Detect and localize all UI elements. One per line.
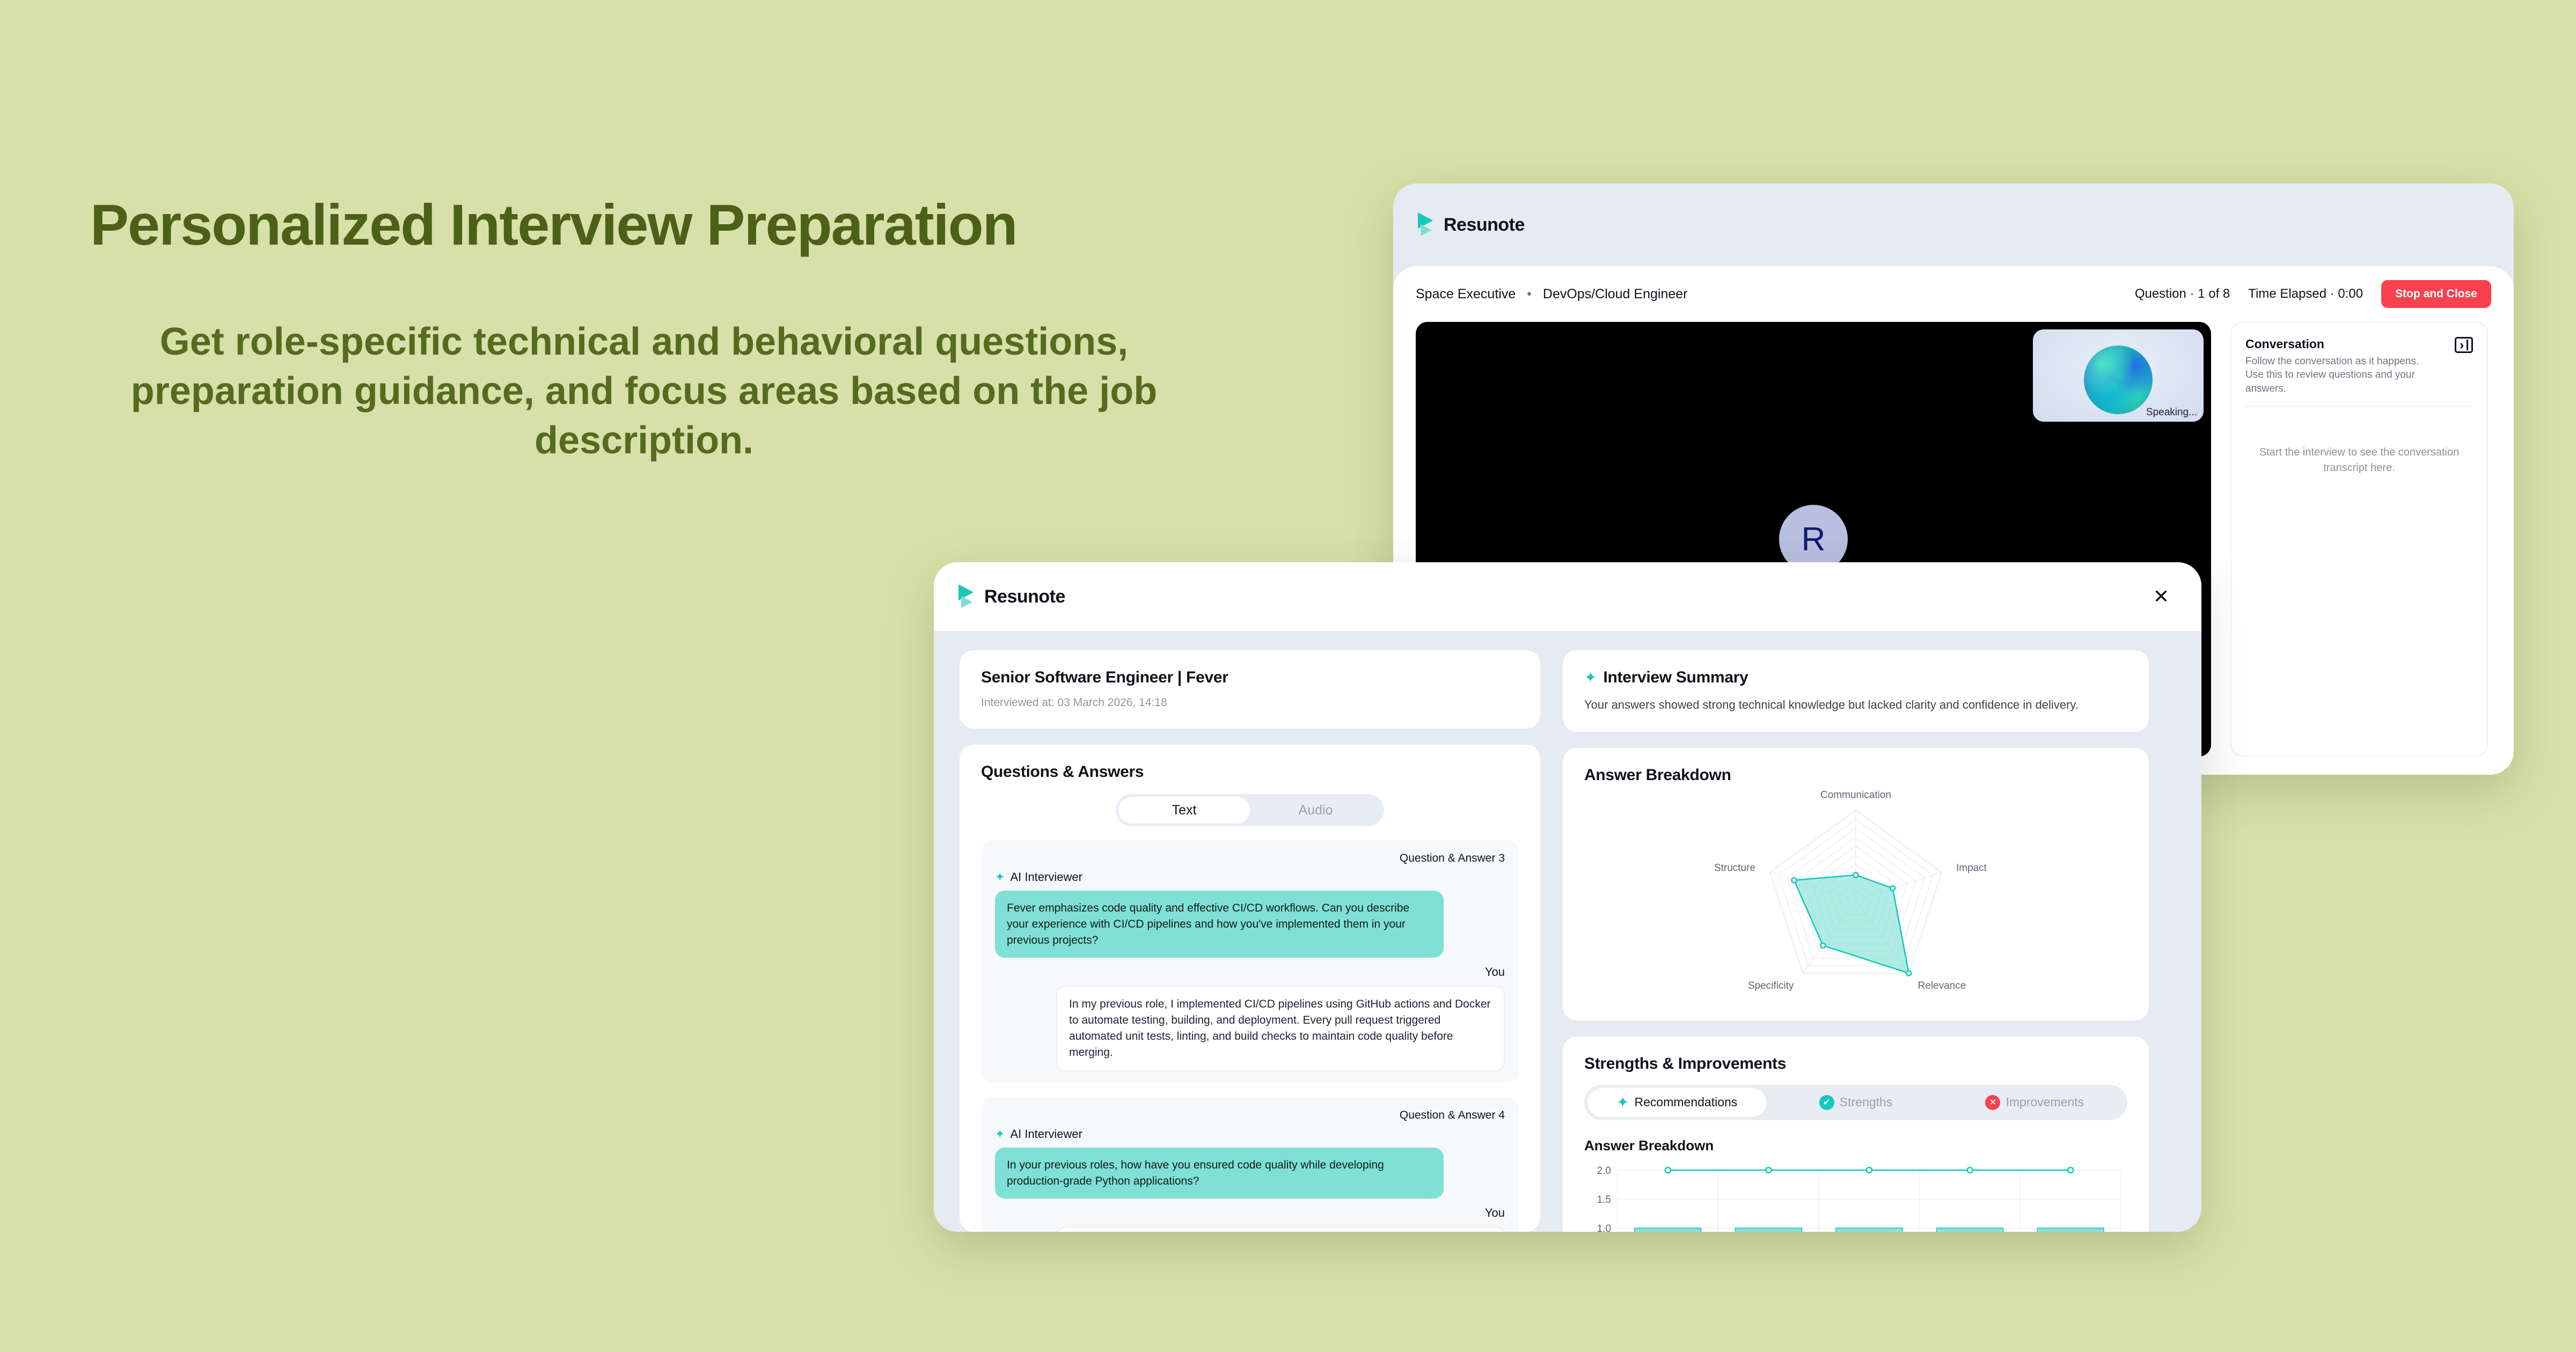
bar-chart-title: Answer Breakdown	[1584, 1137, 2127, 1154]
role-title: DevOps/Cloud Engineer	[1543, 286, 1688, 302]
time-elapsed: Time Elapsed · 0:00	[2248, 286, 2363, 302]
sparkle-icon: ✦	[1616, 1095, 1629, 1110]
ai-interviewer-tile: Speaking...	[2033, 329, 2204, 422]
job-title: Senior Software Engineer | Fever	[981, 668, 1519, 687]
company-name: Space Executive	[1416, 286, 1516, 302]
strengths-section-title: Strengths & Improvements	[1584, 1055, 2127, 1073]
live-status-group: Question · 1 of 8 Time Elapsed · 0:00 St…	[2135, 280, 2491, 308]
svg-text:2.0: 2.0	[1597, 1165, 1611, 1177]
svg-text:1.0: 1.0	[1597, 1223, 1611, 1232]
sparkle-icon: ✦	[995, 871, 1005, 883]
separator-dot: •	[1527, 286, 1532, 302]
speaker-you: You	[995, 1206, 1505, 1220]
brand-logo: Resunote	[1418, 212, 1525, 237]
speaking-status: Speaking...	[2146, 407, 2197, 418]
summary-text: Your answers showed strong technical kno…	[1584, 696, 2127, 714]
conversation-panel: Conversation Follow the conversation as …	[2230, 322, 2488, 756]
question-bubble: In your previous roles, how have you ens…	[995, 1148, 1444, 1199]
page-subcopy: Get role-specific technical and behavior…	[0, 317, 1288, 465]
qa-section-title: Questions & Answers	[981, 763, 1519, 781]
radar-chart: CommunicationImpactRelevanceSpecificityS…	[1584, 788, 2127, 1002]
svg-text:Relevance: Relevance	[1918, 980, 1966, 991]
report-body: Senior Software Engineer | Fever Intervi…	[934, 631, 2201, 1232]
summary-title-row: ✦ Interview Summary	[1584, 668, 2127, 687]
strengths-improvements-card: Strengths & Improvements ✦ Recommendatio…	[1563, 1037, 2149, 1232]
answer-breakdown-radar-card: Answer Breakdown CommunicationImpactRele…	[1563, 748, 2149, 1020]
question-counter: Question · 1 of 8	[2135, 286, 2230, 302]
sparkle-icon: ✦	[1584, 670, 1597, 685]
tab-label: Improvements	[2006, 1095, 2084, 1109]
svg-text:Impact: Impact	[1956, 862, 1987, 873]
tab-improvements[interactable]: ✕ Improvements	[1945, 1088, 2124, 1117]
questions-answers-card: Questions & Answers Text Audio Question …	[960, 745, 1540, 1232]
qa-index: Question & Answer 3	[995, 852, 1505, 865]
radar-chart-title: Answer Breakdown	[1584, 766, 2127, 784]
interview-report-window: Resunote ✕ Senior Software Engineer | Fe…	[934, 562, 2201, 1232]
svg-text:1.5: 1.5	[1597, 1194, 1611, 1206]
report-left-column: Senior Software Engineer | Fever Intervi…	[960, 650, 1540, 1232]
qa-item: Question & Answer 4 ✦ AI Interviewer In …	[981, 1097, 1519, 1232]
summary-title: Interview Summary	[1603, 668, 1748, 687]
speaker-you: You	[995, 965, 1505, 979]
answer-bubble	[1056, 1226, 1505, 1232]
brand-name: Resunote	[1444, 215, 1525, 236]
resunote-logo-icon	[1418, 212, 1436, 237]
interview-summary-card: ✦ Interview Summary Your answers showed …	[1563, 650, 2149, 732]
conversation-subtitle: Follow the conversation as it happens. U…	[2245, 355, 2433, 395]
conversation-header-text: Conversation Follow the conversation as …	[2245, 337, 2433, 395]
collapse-panel-icon[interactable]	[2455, 337, 2473, 353]
report-window-topbar: Resunote ✕	[934, 562, 2201, 631]
ai-orb-icon	[2084, 346, 2153, 414]
tab-label: Strengths	[1840, 1095, 1892, 1109]
page-headline: Personalized Interview Preparation	[0, 193, 1288, 257]
qa-mode-toggle[interactable]: Text Audio	[1116, 794, 1384, 826]
tab-label: Recommendations	[1635, 1095, 1738, 1109]
tab-text[interactable]: Text	[1118, 797, 1250, 824]
close-icon[interactable]: ✕	[2153, 587, 2169, 606]
speaker-label: AI Interviewer	[1010, 870, 1082, 884]
sparkle-icon: ✦	[995, 1128, 1005, 1140]
speaker-ai: ✦ AI Interviewer	[995, 1127, 1505, 1141]
stop-and-close-button[interactable]: Stop and Close	[2381, 280, 2491, 308]
svg-text:Specificity: Specificity	[1748, 980, 1794, 991]
brand-name: Resunote	[984, 586, 1065, 607]
report-right-column: ✦ Interview Summary Your answers showed …	[1563, 650, 2149, 1232]
question-bubble: Fever emphasizes code quality and effect…	[995, 891, 1444, 958]
job-info-card: Senior Software Engineer | Fever Intervi…	[960, 650, 1540, 729]
qa-item: Question & Answer 3 ✦ AI Interviewer Fev…	[981, 840, 1519, 1083]
strengths-tab-group[interactable]: ✦ Recommendations ✔ Strengths ✕ Improvem…	[1584, 1085, 2127, 1120]
brand-logo-report: Resunote	[958, 584, 1065, 609]
speaker-ai: ✦ AI Interviewer	[995, 870, 1505, 884]
tab-strengths[interactable]: ✔ Strengths	[1766, 1088, 1945, 1117]
conversation-title: Conversation	[2245, 337, 2433, 351]
interview-role-line: Space Executive • DevOps/Cloud Engineer	[1416, 286, 1687, 302]
tab-recommendations[interactable]: ✦ Recommendations	[1587, 1088, 1766, 1117]
bar-chart: 00.51.01.52.0CommunicationImpactRelevanc…	[1584, 1159, 2127, 1232]
qa-index: Question & Answer 4	[995, 1109, 1505, 1122]
check-icon: ✔	[1819, 1095, 1834, 1110]
svg-text:Structure: Structure	[1714, 862, 1755, 873]
answer-bubble: In my previous role, I implemented CI/CD…	[1056, 986, 1505, 1071]
interviewed-at: Interviewed at: 03 March 2026, 14:18	[981, 696, 1519, 709]
tab-audio[interactable]: Audio	[1250, 797, 1381, 824]
resunote-logo-icon	[958, 584, 977, 609]
speaker-label: AI Interviewer	[1010, 1127, 1082, 1141]
svg-text:Communication: Communication	[1820, 789, 1891, 800]
live-window-topbar: Resunote	[1393, 183, 2514, 266]
cross-icon: ✕	[1985, 1095, 2000, 1110]
marketing-copy: Personalized Interview Preparation Get r…	[0, 193, 1288, 465]
conversation-header: Conversation Follow the conversation as …	[2245, 337, 2473, 407]
live-meta-bar: Space Executive • DevOps/Cloud Engineer …	[1416, 266, 2491, 322]
conversation-empty-state: Start the interview to see the conversat…	[2245, 445, 2473, 476]
